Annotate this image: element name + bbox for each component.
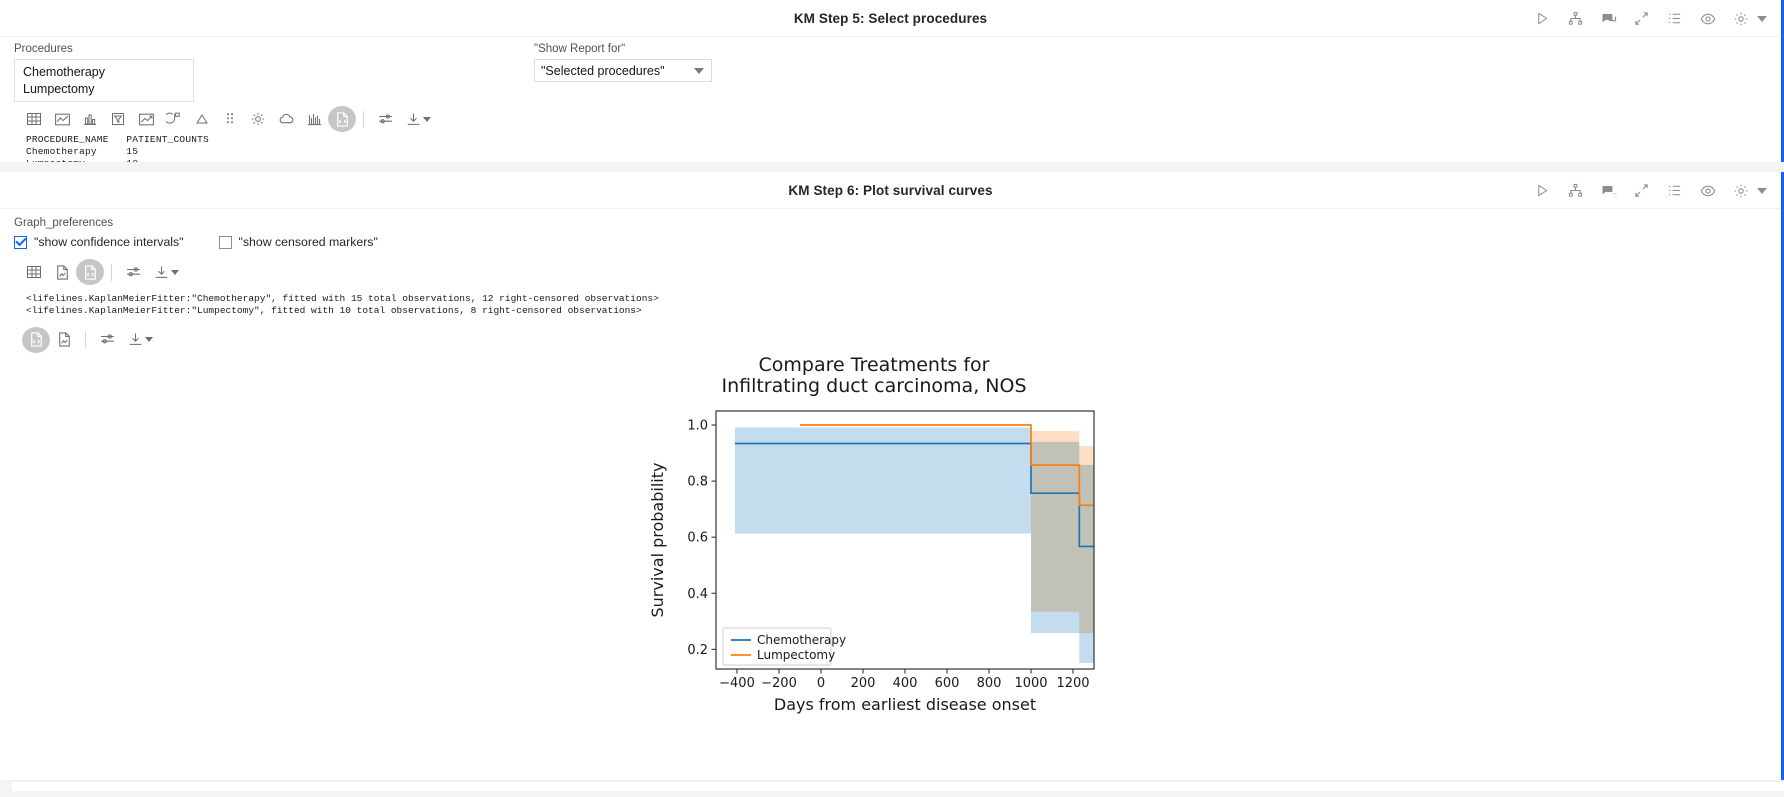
histogram-icon[interactable] [300, 106, 328, 132]
survival-plot-svg: −400−2000200400600800100012001.00.80.60.… [639, 397, 1109, 737]
chevron-down-icon[interactable] [171, 270, 179, 275]
svg-text:Chemotherapy: Chemotherapy [757, 633, 846, 647]
table-view-icon[interactable] [20, 106, 48, 132]
cell6-header: KM Step 6: Plot survival curves [0, 172, 1781, 209]
run-icon[interactable] [1534, 10, 1551, 27]
chevron-down-icon[interactable] [694, 68, 704, 74]
script-output-icon[interactable] [328, 106, 356, 132]
graph-preferences-checkbox-group: "show confidence intervals" "show censor… [14, 235, 1767, 249]
toolbar-divider [85, 331, 86, 348]
fitter-output: <lifelines.KaplanMeierFitter:"Chemothera… [26, 293, 659, 316]
chevron-down-icon[interactable] [145, 337, 153, 342]
table-view-icon[interactable] [20, 259, 48, 285]
procedures-field: Procedures Chemotherapy Lumpectomy [14, 43, 194, 102]
report-for-value: "Selected procedures" [541, 64, 665, 78]
svg-text:0: 0 [817, 676, 825, 691]
chart-title: Compare Treatments for Infiltrating duct… [639, 355, 1109, 398]
area-chart-icon[interactable] [188, 106, 216, 132]
page-bottom-bar [0, 781, 1784, 797]
notebook-page: KM Step 5: Select procedures Procedures … [0, 0, 1784, 797]
checkbox-label: "show confidence intervals" [34, 235, 184, 249]
cell5-header: KM Step 5: Select procedures [0, 0, 1781, 37]
list-icon[interactable] [1666, 182, 1683, 199]
toolbar-divider [111, 264, 112, 281]
expand-icon[interactable] [1633, 10, 1650, 27]
settings-icon[interactable] [1732, 10, 1749, 27]
report-for-field: "Show Report for" "Selected procedures" [534, 43, 712, 102]
cell6-title: KM Step 6: Plot survival curves [0, 183, 1781, 198]
svg-text:Survival probability: Survival probability [648, 463, 667, 618]
svg-text:400: 400 [893, 676, 918, 691]
svg-text:−200: −200 [761, 676, 797, 691]
checkbox-unchecked-icon[interactable] [219, 236, 232, 249]
chart-title-line2: Infiltrating duct carcinoma, NOS [639, 376, 1109, 397]
cell6-viz-toolbar [14, 249, 1767, 287]
svg-text:1.0: 1.0 [687, 419, 708, 434]
svg-text:Lumpectomy: Lumpectomy [757, 648, 835, 662]
checkbox-checked-icon[interactable] [14, 236, 27, 249]
checkbox-show-censored-markers[interactable]: "show censored markers" [219, 235, 378, 249]
procedures-option-lumpectomy[interactable]: Lumpectomy [23, 81, 185, 98]
run-icon[interactable] [1534, 182, 1551, 199]
procedures-multiselect[interactable]: Chemotherapy Lumpectomy [14, 59, 194, 102]
comment-icon[interactable] [1600, 10, 1617, 27]
checkbox-show-confidence-intervals[interactable]: "show confidence intervals" [14, 235, 184, 249]
svg-text:0.4: 0.4 [687, 587, 708, 602]
bar-chart-icon[interactable] [76, 106, 104, 132]
report-for-select[interactable]: "Selected procedures" [534, 59, 712, 82]
cell5-body: Procedures Chemotherapy Lumpectomy "Show… [0, 37, 1781, 170]
expand-icon[interactable] [1633, 182, 1650, 199]
svg-text:600: 600 [935, 676, 960, 691]
cell6-body: Graph_preferences "show confidence inter… [0, 209, 1781, 755]
cell5-viz-toolbar [14, 102, 1767, 134]
hierarchy-icon[interactable] [1567, 182, 1584, 199]
document-view-icon[interactable] [48, 259, 76, 285]
svg-text:Days from earliest disease ons: Days from earliest disease onset [774, 695, 1036, 714]
funnel-chart-icon[interactable] [104, 106, 132, 132]
procedures-label: Procedures [14, 43, 194, 55]
svg-text:1200: 1200 [1056, 676, 1089, 691]
svg-text:800: 800 [977, 676, 1002, 691]
script-output-icon[interactable] [22, 327, 50, 353]
svg-text:200: 200 [851, 676, 876, 691]
cell5-header-tools [1534, 0, 1767, 37]
script-output-icon[interactable] [76, 259, 104, 285]
survival-chart: Compare Treatments for Infiltrating duct… [639, 355, 1109, 745]
bottom-cell-edge [12, 781, 1784, 791]
visibility-icon[interactable] [1699, 10, 1716, 27]
chevron-down-icon[interactable] [423, 117, 431, 122]
page-title: KM Step 5: Select procedures [0, 11, 1781, 26]
sunburst-icon[interactable] [244, 106, 272, 132]
chart-settings-icon[interactable] [119, 259, 147, 285]
comment-icon[interactable] [1600, 182, 1617, 199]
list-icon[interactable] [1666, 10, 1683, 27]
svg-text:0.6: 0.6 [687, 531, 708, 546]
survival-chart-container: Compare Treatments for Infiltrating duct… [14, 355, 1767, 755]
chevron-down-icon[interactable] [1757, 16, 1767, 22]
graph-preferences-label: Graph_preferences [14, 217, 1767, 229]
svg-text:0.2: 0.2 [687, 643, 708, 658]
pie-chart-icon[interactable] [160, 106, 188, 132]
visibility-icon[interactable] [1699, 182, 1716, 199]
report-for-label: "Show Report for" [534, 43, 712, 55]
checkbox-label: "show censored markers" [239, 235, 378, 249]
chart-settings-icon[interactable] [93, 327, 121, 353]
chart-settings-icon[interactable] [371, 106, 399, 132]
cloud-chart-icon[interactable] [272, 106, 300, 132]
cell6-output-text: <lifelines.KaplanMeierFitter:"Chemothera… [14, 293, 1767, 317]
toolbar-divider [363, 111, 364, 128]
svg-text:0.8: 0.8 [687, 475, 708, 490]
hierarchy-icon[interactable] [1567, 10, 1584, 27]
svg-text:−400: −400 [719, 676, 755, 691]
settings-icon[interactable] [1732, 182, 1749, 199]
dot-matrix-icon[interactable] [216, 106, 244, 132]
notebook-cell-step5: KM Step 5: Select procedures Procedures … [0, 0, 1784, 180]
cell6-header-tools [1534, 172, 1767, 209]
svg-text:1000: 1000 [1014, 676, 1047, 691]
trend-chart-icon[interactable] [132, 106, 160, 132]
cell-gap [0, 162, 1784, 172]
line-chart-icon[interactable] [48, 106, 76, 132]
chevron-down-icon[interactable] [1757, 188, 1767, 194]
chart-title-line1: Compare Treatments for [639, 355, 1109, 376]
procedures-option-chemotherapy[interactable]: Chemotherapy [23, 64, 185, 81]
plot-viz-toolbar [14, 317, 1767, 355]
notebook-cell-step6: KM Step 6: Plot survival curves Graph_pr… [0, 172, 1784, 780]
document-view-icon[interactable] [50, 327, 78, 353]
